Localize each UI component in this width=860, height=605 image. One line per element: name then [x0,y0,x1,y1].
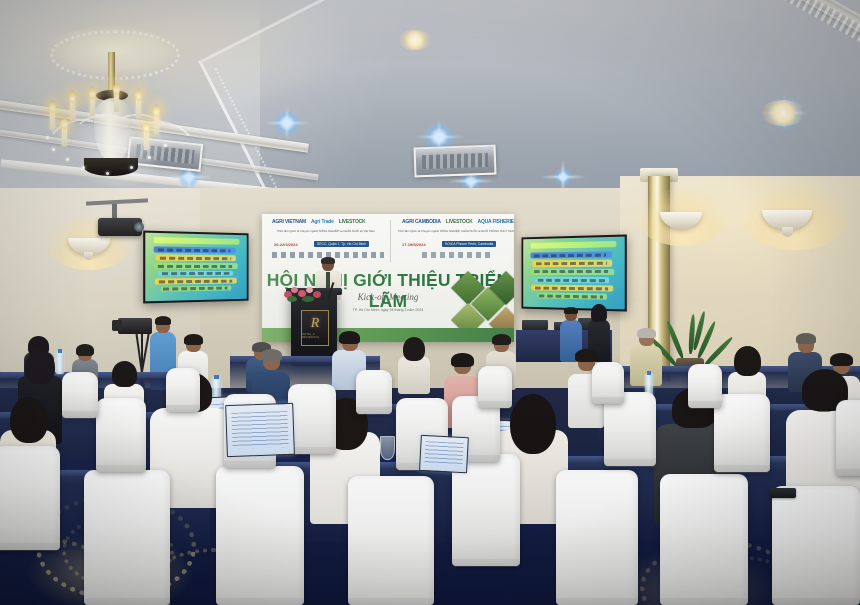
wine-glass [380,436,395,460]
slide-title-bar [531,241,616,249]
chair[interactable] [356,370,392,414]
chair[interactable] [714,394,770,472]
camera-lens-hood-icon [112,320,122,331]
chair[interactable] [660,474,748,605]
right-projection-screen [521,234,626,311]
laptop[interactable] [225,403,293,455]
chair[interactable] [62,372,98,418]
podium-plaque: R HOTEL & RESIDENCE [301,310,329,346]
downlight-icon [274,110,300,136]
smartphone[interactable] [770,488,796,498]
banner-logo-livestock-2: LIVESTOCK [446,219,473,225]
laptop[interactable] [419,435,467,471]
wall-sconce-finial [782,227,793,237]
slide-title-bar [154,237,239,245]
chandelier-candle [90,96,95,116]
chair[interactable] [84,470,170,605]
left-slide [145,233,246,302]
downlight-warm-icon [398,30,432,50]
ac-vent [414,145,497,178]
banner-logo-agritrade: Agri Trade [311,219,334,225]
chandelier-flame-icon [135,88,142,101]
banner-left-tagline: Triển lãm Quốc tế Chuyên ngành NÔNG NGHI… [270,229,382,233]
chandelier-candle [62,126,67,146]
chair[interactable] [688,364,722,408]
podium-subtext: HOTEL & RESIDENCE [302,333,328,339]
right-slide [523,237,624,310]
downlight-icon [554,168,572,186]
chandelier-flame-icon [69,90,76,103]
chair[interactable] [0,446,60,550]
flower-arrangement [282,283,324,303]
banner-left-location: SECC, Quận 7, Tp. Hồ Chí Minh [314,241,369,247]
banner-logo-livestock: LIVESTOCK [339,219,366,225]
banner-logo-aqua: AQUA FISHERIES [478,219,514,225]
left-projection-screen [143,231,248,304]
speaker-tie [326,272,330,288]
chair[interactable] [96,398,146,472]
downlight-warm-icon [760,100,806,126]
potted-plant [662,300,718,370]
chandelier-flame-icon [61,116,68,129]
banner-right-location: KOICA Phnom Penh, Cambodia [442,241,496,247]
chair[interactable] [348,476,434,605]
chandelier-flame-icon [49,100,56,113]
chandelier-flame-icon [89,86,96,99]
chandelier-candle [114,92,119,112]
chandelier-candle [70,100,75,120]
chandelier-flame-icon [113,82,120,95]
chandelier-candle [154,114,159,134]
banner-logo-agri: AGRI VIETNAM [272,219,306,225]
chandelier-candle [136,98,141,118]
banner-right-dates: 17-19/5/2024 [402,242,426,247]
banner-right-sponsor-strip [422,252,492,258]
chair[interactable] [592,362,624,404]
speaker-hair [321,257,335,264]
chair[interactable] [772,486,860,605]
chair[interactable] [478,366,512,408]
chair[interactable] [288,384,336,454]
video-camera [118,318,152,334]
chair[interactable] [166,368,200,412]
chandelier-flame-icon [153,104,160,117]
chandelier-candle [144,130,149,150]
conference-hall-photo: AGRI VIETNAM Agri Trade LIVESTOCK Triển … [0,0,860,605]
chair[interactable] [556,470,638,605]
chair[interactable] [216,466,304,605]
audience-person [398,340,430,394]
banner-left-dates: 20-22/3/2024 [274,242,298,247]
chandelier-candle [50,110,55,130]
chandelier [18,52,218,202]
chandelier-flame-icon [143,120,150,133]
podium-monogram: R [311,317,320,331]
banner-logo-agri-cambodia: AGRI CAMBODIA [402,219,441,225]
projector-lens-icon [134,222,144,232]
wall-sconce-finial [84,252,93,260]
chair[interactable] [836,400,860,476]
banner-right-tagline: Triển lãm Quốc tế Chuyên ngành NÔNG NGHI… [398,229,508,233]
